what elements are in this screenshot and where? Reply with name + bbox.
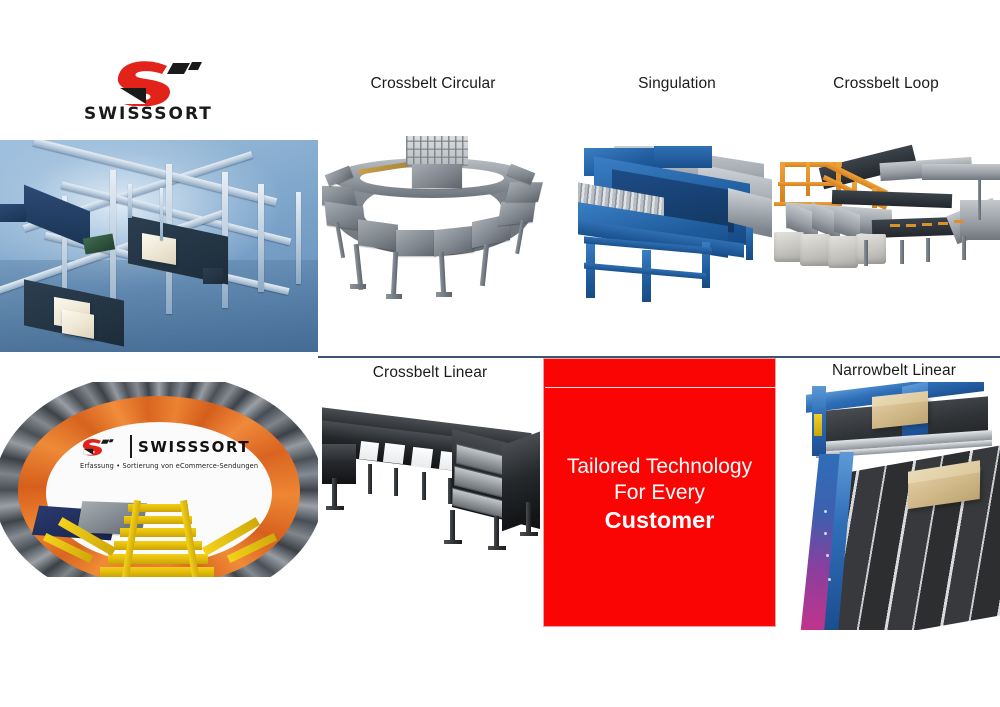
swisssort-wordmark: SWISSSORT bbox=[84, 104, 213, 124]
crossbelt-circular-image bbox=[322, 134, 544, 304]
callout-top-rule bbox=[545, 387, 776, 388]
slide-canvas: SWISSSORT Crossbelt Circular Singulation… bbox=[0, 0, 1000, 707]
caption-crossbelt-circular: Crossbelt Circular bbox=[322, 75, 544, 93]
gantry-render-image bbox=[0, 140, 318, 352]
swisssort-logo-overlay: SWISSSORT Erfassung • Sortierung von eCo… bbox=[80, 432, 250, 480]
singulation-image bbox=[578, 146, 776, 306]
crossbelt-loop-image bbox=[772, 144, 1000, 294]
swisssort-overlay-logo-mark bbox=[80, 434, 124, 460]
callout-line-2: For Every bbox=[544, 480, 775, 506]
crossbelt-linear-image bbox=[322, 398, 540, 563]
tailored-technology-callout: Tailored Technology For Every Customer bbox=[543, 358, 776, 627]
swisssort-logo-mark bbox=[110, 60, 230, 106]
caption-narrowbelt-linear: Narrowbelt Linear bbox=[788, 362, 1000, 380]
caption-singulation: Singulation bbox=[578, 75, 776, 93]
swisssort-logo: SWISSSORT bbox=[84, 60, 264, 125]
callout-line-1: Tailored Technology bbox=[544, 454, 775, 480]
caption-crossbelt-linear: Crossbelt Linear bbox=[320, 364, 540, 382]
callout-line-3: Customer bbox=[544, 506, 775, 535]
swisssort-overlay-tagline: Erfassung • Sortierung von eCommerce-Sen… bbox=[80, 462, 258, 470]
swisssort-overlay-wordmark: SWISSSORT bbox=[138, 438, 250, 456]
orange-sorter-image: SWISSSORT Erfassung • Sortierung von eCo… bbox=[0, 382, 318, 577]
narrowbelt-linear-image bbox=[788, 382, 1000, 630]
caption-crossbelt-loop: Crossbelt Loop bbox=[772, 75, 1000, 93]
